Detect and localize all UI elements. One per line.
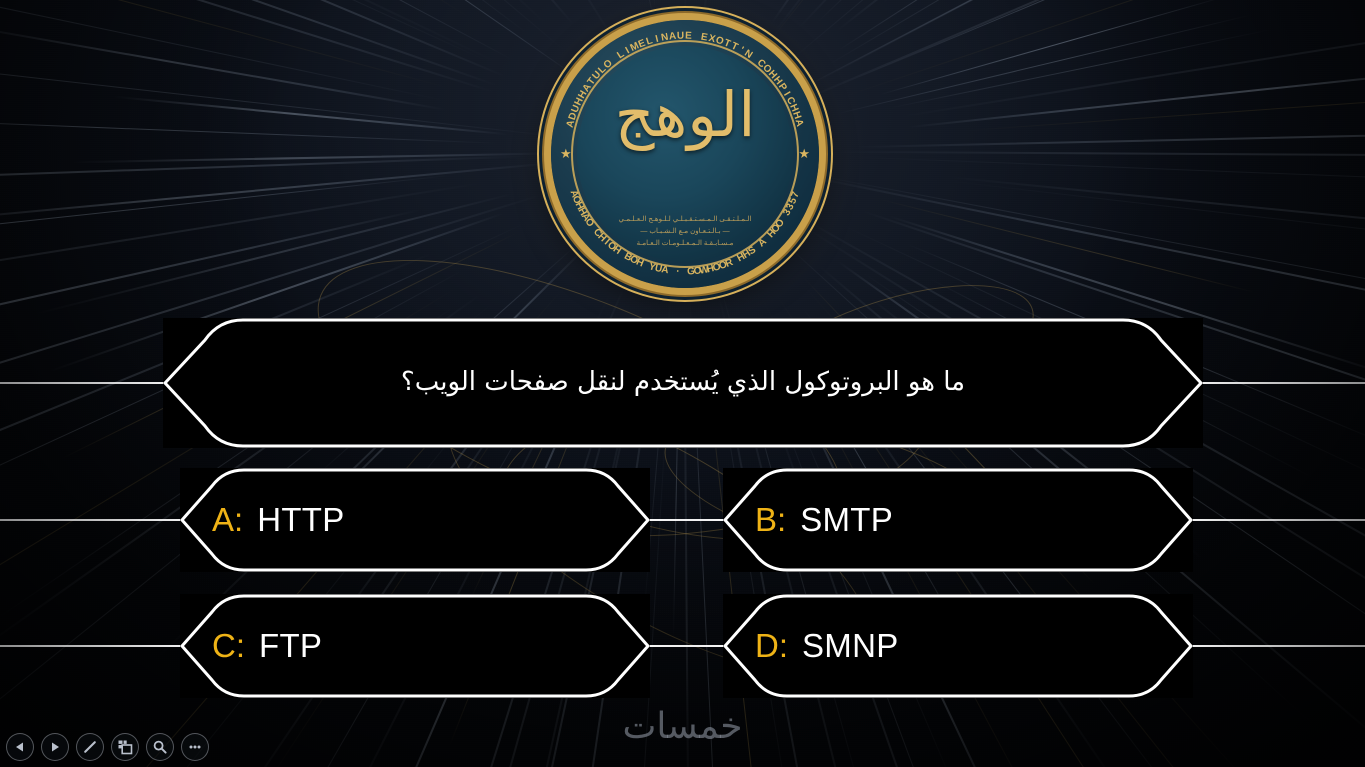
answer-b-connector-left — [647, 519, 727, 521]
emblem-outer-ring: ADUHHATULO LIMELINAUE EXOTT'N COHHPICHHA… — [551, 20, 819, 288]
answer-option-b[interactable]: B: SMTP — [723, 468, 1193, 572]
answer-c-text: FTP — [259, 627, 322, 665]
answer-option-a[interactable]: A: HTTP — [180, 468, 650, 572]
answer-option-c[interactable]: C: FTP — [180, 594, 650, 698]
triangle-right-icon — [49, 741, 61, 753]
emblem-star-left-icon: ★ — [560, 146, 572, 162]
answer-d-connector-left — [647, 645, 727, 647]
emblem-inner-disc: الوهج الـمـلـتـقـى الـمـسـتـقـبـلـي لـلـ… — [577, 46, 793, 262]
answer-b-text: SMTP — [800, 501, 893, 539]
magnifier-icon — [152, 739, 168, 755]
next-slide-button[interactable] — [41, 733, 69, 761]
answer-b-letter: B: — [755, 501, 786, 539]
answer-d-text: SMNP — [802, 627, 899, 665]
question-box: ما هو البروتوكول الذي يُستخدم لنقل صفحات… — [163, 318, 1203, 448]
answer-option-d[interactable]: D: SMNP — [723, 594, 1193, 698]
presentation-toolbar — [6, 733, 209, 761]
question-text: ما هو البروتوكول الذي يُستخدم لنقل صفحات… — [163, 364, 1203, 402]
question-connector-left — [0, 382, 168, 384]
emblem-subtitle-line: — بـالـتـعـاون مـع الـشـبـاب — — [577, 226, 793, 238]
ellipsis-icon — [187, 739, 203, 755]
answer-d-letter: D: — [755, 627, 788, 665]
more-options-button[interactable] — [181, 733, 209, 761]
slide-canvas: ADUHHATULO LIMELINAUE EXOTT'N COHHPICHHA… — [0, 0, 1365, 767]
pen-icon — [82, 739, 98, 755]
answer-c-letter: C: — [212, 627, 245, 665]
emblem-subtitle-line: الـمـلـتـقـى الـمـسـتـقـبـلـي لـلـوهـج ا… — [577, 214, 793, 226]
answer-d-connector-right — [1190, 645, 1365, 647]
emblem-subtitle-lines: الـمـلـتـقـى الـمـسـتـقـبـلـي لـلـوهـج ا… — [577, 214, 793, 250]
emblem-star-right-icon: ★ — [798, 146, 810, 162]
pen-tool-button[interactable] — [76, 733, 104, 761]
answer-a-letter: A: — [212, 501, 243, 539]
emblem-calligraphy: الوهج — [577, 84, 793, 146]
emblem-logo: ADUHHATULO LIMELINAUE EXOTT'N COHHPICHHA… — [551, 20, 819, 288]
answer-b-connector-right — [1190, 519, 1365, 521]
previous-slide-button[interactable] — [6, 733, 34, 761]
answer-a-connector-left — [0, 519, 185, 521]
slides-grid-icon — [117, 739, 133, 755]
answer-a-text: HTTP — [257, 501, 344, 539]
question-connector-right — [1198, 382, 1365, 384]
answer-c-connector-left — [0, 645, 185, 647]
slide-grid-button[interactable] — [111, 733, 139, 761]
zoom-button[interactable] — [146, 733, 174, 761]
emblem-subtitle-line: مـسـابـقـة الـمـعـلـومـات الـعـامـة — [577, 238, 793, 250]
triangle-left-icon — [14, 741, 26, 753]
